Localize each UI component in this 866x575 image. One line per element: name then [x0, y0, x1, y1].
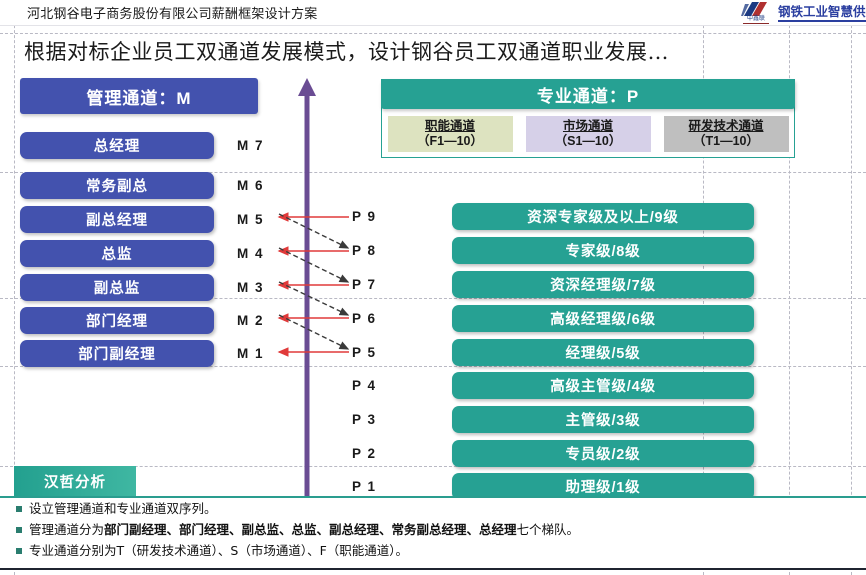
analysis-bullet-text: 设立管理通道和专业通道双序列。 — [29, 500, 217, 517]
management-level-code: M 6 — [237, 172, 279, 199]
analysis-tab-label: 汉哲分析 — [14, 466, 136, 496]
subchannel-range: （S1—10） — [555, 134, 622, 149]
footer-divider — [0, 568, 866, 570]
subchannel-market: 市场通道 （S1—10） — [526, 116, 651, 152]
document-title: 河北钢谷电子商务股份有限公司薪酬框架设计方案 — [27, 3, 317, 22]
analysis-panel: 设立管理通道和专业通道双序列。 管理通道分为部门副经理、部门经理、副总监、总监、… — [0, 496, 866, 568]
professional-level-box: 资深专家级及以上/9级 — [452, 203, 754, 230]
management-channel-banner: 管理通道：M — [20, 78, 258, 114]
professional-level-box: 经理级/5级 — [452, 339, 754, 366]
professional-level-code: P 5 — [352, 339, 396, 366]
triangle-logo-icon — [741, 2, 771, 16]
guide-horizontal-top — [0, 33, 866, 34]
bullet-square-icon — [16, 527, 22, 533]
professional-level-box: 资深经理级/7级 — [452, 271, 754, 298]
subchannel-range: （F1—10） — [417, 134, 483, 149]
professional-level-code: P 8 — [352, 237, 396, 264]
management-level-code: M 1 — [237, 340, 279, 367]
management-level-box: 部门副经理 — [20, 340, 214, 367]
professional-level-box: 高级主管级/4级 — [452, 372, 754, 399]
professional-level-box: 专员级/2级 — [452, 440, 754, 467]
document-header: 河北钢谷电子商务股份有限公司薪酬框架设计方案 中鑫联 钢铁工业智慧供应链 — [0, 0, 866, 26]
professional-level-box: 专家级/8级 — [452, 237, 754, 264]
management-level-box: 总经理 — [20, 132, 214, 159]
subchannel-range: （T1—10） — [693, 134, 759, 149]
management-level-box: 副总经理 — [20, 206, 214, 233]
professional-level-code: P 9 — [352, 203, 396, 230]
subchannel-functional: 职能通道 （F1—10） — [388, 116, 513, 152]
bullet-square-icon — [16, 548, 22, 554]
subchannel-name: 市场通道 — [563, 119, 613, 134]
professional-level-box: 高级经理级/6级 — [452, 305, 754, 332]
header-divider — [0, 25, 866, 26]
brand-logo: 中鑫联 钢铁工业智慧供应链 — [739, 1, 866, 25]
management-level-box: 部门经理 — [20, 307, 214, 334]
management-level-code: M 3 — [237, 274, 279, 301]
management-level-box: 常务副总 — [20, 172, 214, 199]
management-level-code: M 4 — [237, 240, 279, 267]
page-title: 根据对标企业员工双通道发展模式，设计钢谷员工双通道职业发展… — [24, 36, 669, 66]
professional-level-code: P 7 — [352, 271, 396, 298]
professional-level-code: P 2 — [352, 440, 396, 467]
management-level-box: 总监 — [20, 240, 214, 267]
professional-level-box: 主管级/3级 — [452, 406, 754, 433]
subchannel-name: 职能通道 — [425, 119, 475, 134]
management-level-code: M 7 — [237, 132, 279, 159]
professional-level-code: P 6 — [352, 305, 396, 332]
subchannel-group: 职能通道 （F1—10） 市场通道 （S1—10） 研发技术通道 （T1—10） — [381, 113, 795, 155]
management-level-box: 副总监 — [20, 274, 214, 301]
brand-slogan: 钢铁工业智慧供应链 — [778, 5, 866, 22]
subchannel-name: 研发技术通道 — [688, 119, 763, 134]
growth-direction-arrow — [298, 78, 316, 505]
brand-underline — [743, 23, 769, 24]
management-level-code: M 5 — [237, 206, 279, 233]
professional-level-code: P 3 — [352, 406, 396, 433]
transfer-links-dashed — [279, 214, 348, 349]
slide-canvas: 河北钢谷电子商务股份有限公司薪酬框架设计方案 中鑫联 钢铁工业智慧供应链 根据对… — [0, 0, 866, 575]
analysis-bullet: 专业通道分别为T（研发技术通道）、S（市场通道）、F（职能通道）。 — [0, 540, 866, 561]
brand-cn-label: 中鑫联 — [747, 15, 765, 22]
promotion-links-red — [279, 217, 349, 352]
professional-level-code: P 4 — [352, 372, 396, 399]
analysis-bullet: 设立管理通道和专业通道双序列。 — [0, 498, 866, 519]
management-level-code: M 2 — [237, 307, 279, 334]
guide-vertical-right3 — [851, 0, 852, 575]
mountain-logo-icon: 中鑫联 — [739, 2, 773, 25]
professional-channel-banner: 专业通道：P — [381, 79, 795, 109]
analysis-bullet-text: 专业通道分别为T（研发技术通道）、S（市场通道）、F（职能通道）。 — [29, 542, 408, 559]
subchannel-rnd: 研发技术通道 （T1—10） — [664, 116, 789, 152]
bullet-square-icon — [16, 506, 22, 512]
analysis-bullet-text: 管理通道分为部门副经理、部门经理、副总监、总监、副总经理、常务副总经理、总经理七… — [29, 521, 579, 538]
analysis-bullet: 管理通道分为部门副经理、部门经理、副总监、总监、副总经理、常务副总经理、总经理七… — [0, 519, 866, 540]
